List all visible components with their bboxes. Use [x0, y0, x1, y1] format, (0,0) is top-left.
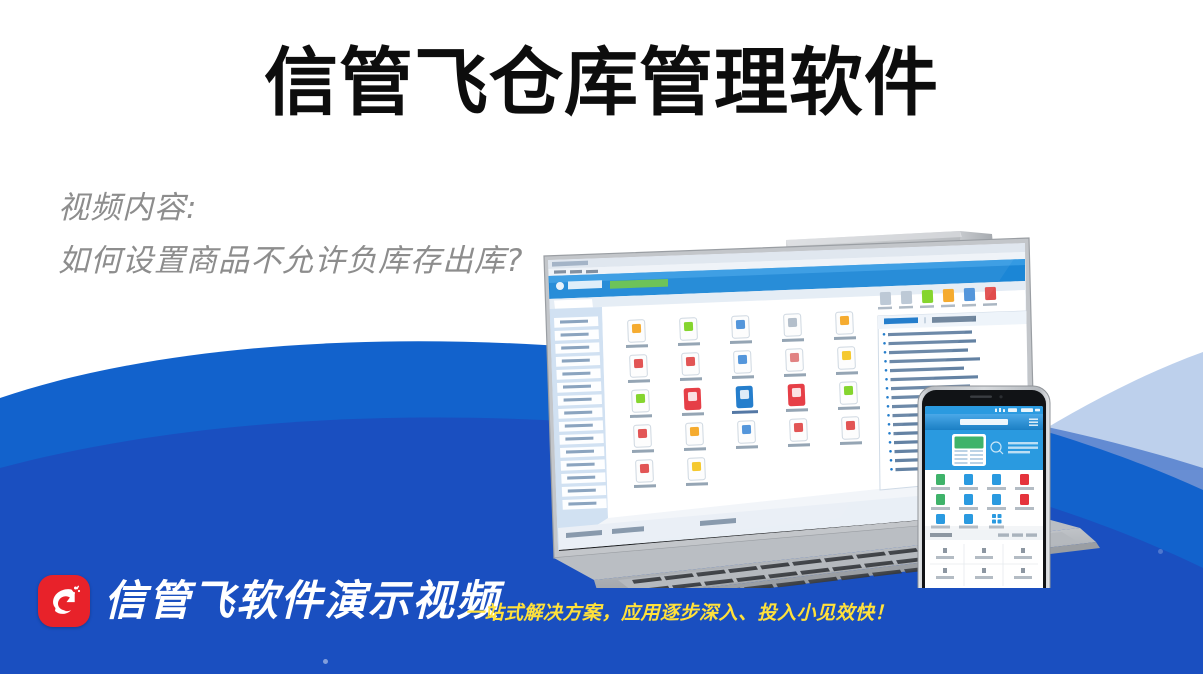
brand-block: 信管飞软件演示视频 [38, 575, 500, 627]
device-mockup-group [540, 228, 1203, 588]
brand-tagline: 一站式解决方案，应用逐步深入、投入小见效快！ [465, 598, 894, 625]
artifact-dot-right [1158, 549, 1163, 554]
dove-logo-icon [38, 575, 90, 627]
devices-illustration [540, 228, 1203, 588]
smartphone [918, 386, 1050, 588]
hamburger-icon [1029, 419, 1038, 426]
presentation-slide: 信管飞仓库管理软件 视频内容: 如何设置商品不允许负库存出库? [0, 0, 1203, 674]
artifact-dot-left [323, 659, 328, 664]
brand-name: 信管飞软件演示视频 [104, 575, 500, 627]
page-title: 信管飞仓库管理软件 [0, 44, 1203, 124]
phone-screen [925, 406, 1043, 588]
